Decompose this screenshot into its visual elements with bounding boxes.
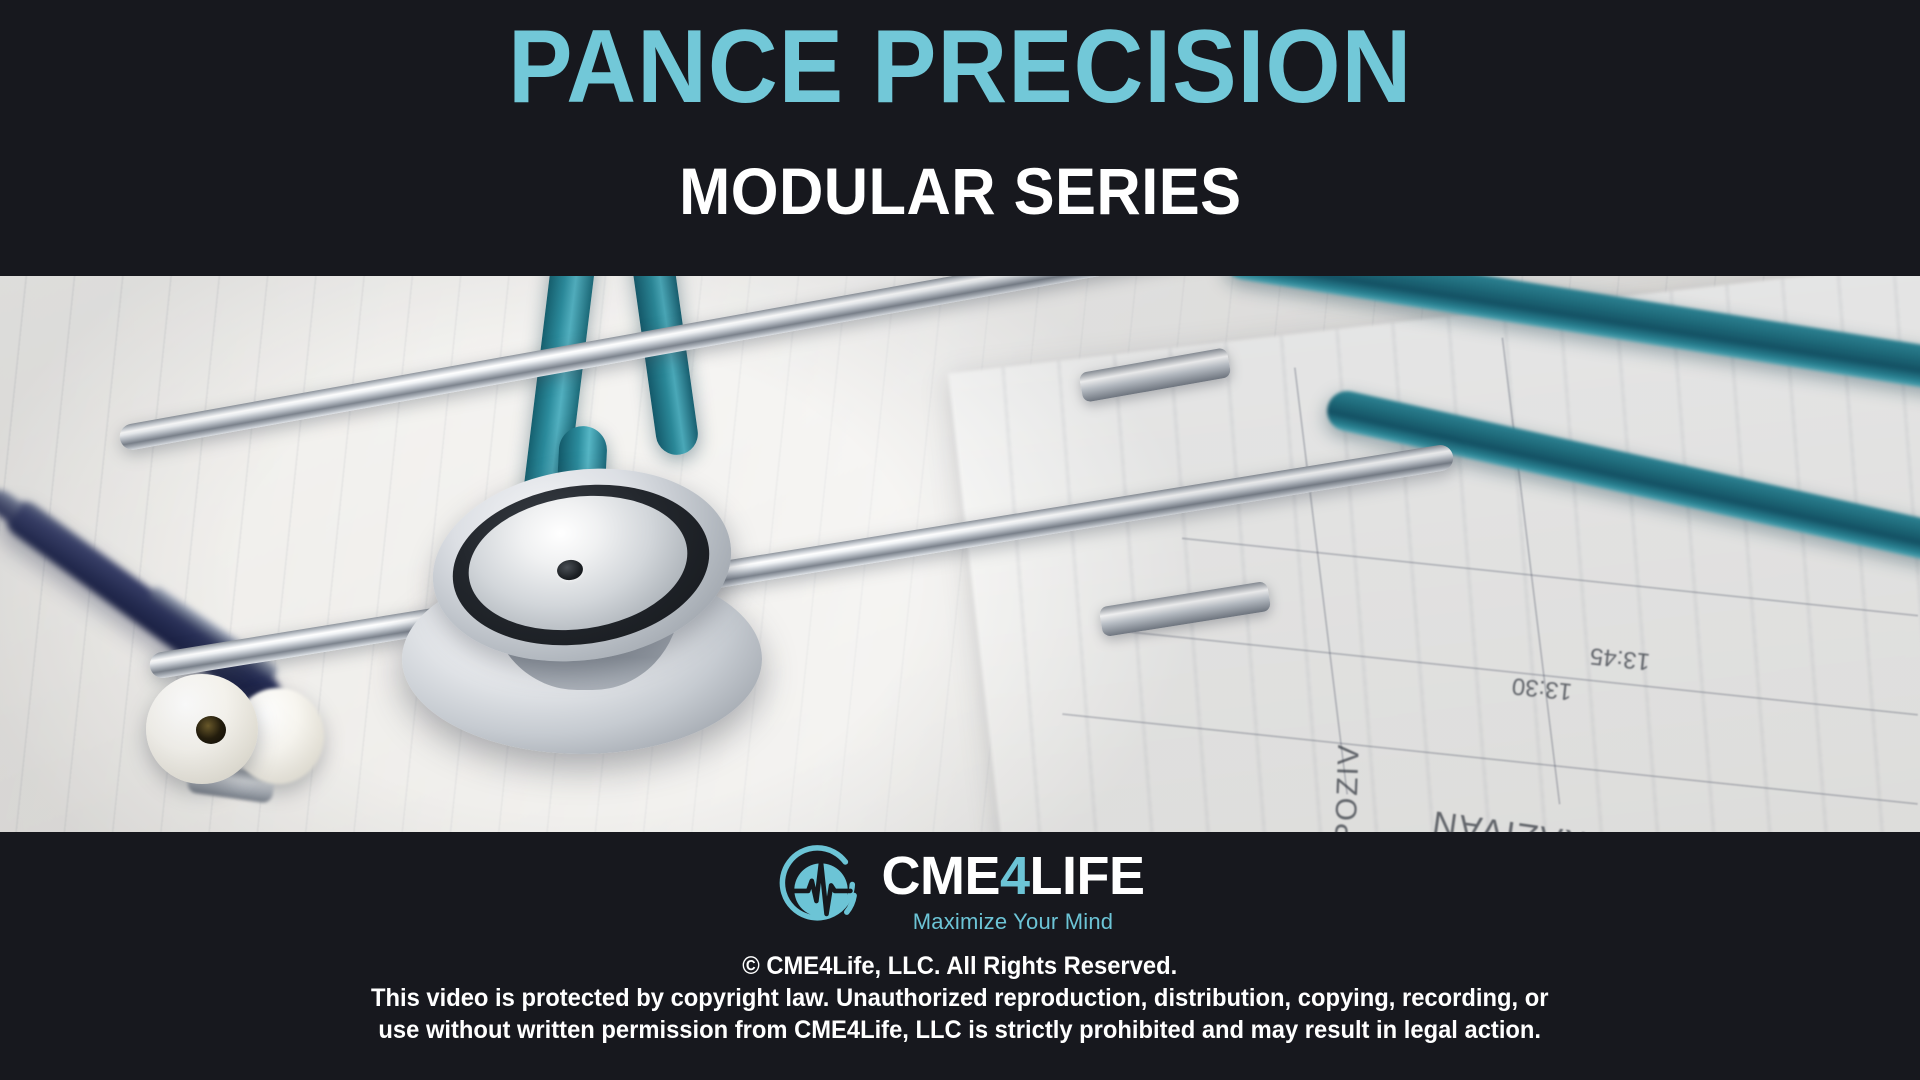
copyright-line-3: use without written permission from CME4… (371, 1014, 1548, 1046)
brand-wordmark: CME4LIFE Maximize Your Mind (881, 849, 1144, 935)
copyright-line-1: © CME4Life, LLC. All Rights Reserved. (371, 950, 1548, 982)
page-title: PANCE PRECISION (508, 14, 1412, 120)
brand-word-prefix: CME (881, 846, 1000, 906)
form-label-poziv: POZIV (1329, 742, 1366, 832)
header-band: PANCE PRECISION MODULAR SERIES (0, 0, 1920, 276)
hero-photo: 13:30 13:45 14:00 ne Time POZIV ZAKAZIVA… (0, 276, 1920, 832)
copyright-notice: © CME4Life, LLC. All Rights Reserved. Th… (371, 950, 1548, 1046)
ear-tip-bore (196, 716, 226, 744)
page-subtitle: MODULAR SERIES (679, 158, 1241, 225)
stethoscope-chestpiece (402, 464, 792, 764)
brand-word-accent: 4 (1000, 846, 1030, 906)
brand-word-suffix: LIFE (1030, 846, 1145, 906)
brand-tagline: Maximize Your Mind (913, 909, 1113, 935)
cme4life-ekg-logo-icon (775, 844, 867, 936)
title-slide: PANCE PRECISION MODULAR SERIES 13:30 13:… (0, 0, 1920, 1080)
brand-logo: CME4LIFE Maximize Your Mind (775, 844, 1144, 936)
brand-wordmark-text: CME4LIFE (881, 849, 1144, 903)
copyright-line-2: This video is protected by copyright law… (371, 982, 1548, 1014)
photo-stage: 13:30 13:45 14:00 ne Time POZIV ZAKAZIVA… (0, 276, 1920, 832)
footer-band: CME4LIFE Maximize Your Mind © CME4Life, … (0, 832, 1920, 1080)
